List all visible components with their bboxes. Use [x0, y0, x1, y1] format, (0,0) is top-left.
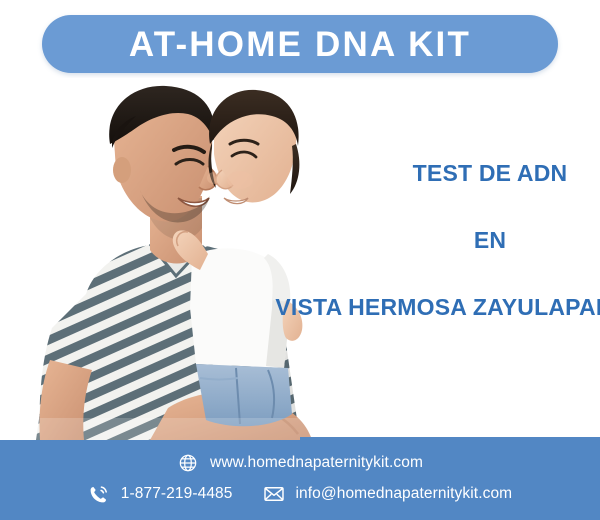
footer-row-contact: 1-877-219-4485 info@homednapaternitykit.…: [0, 483, 600, 505]
headline-line-3-location: VISTA HERMOSA ZAYULAPAN: [263, 294, 600, 321]
footer-email[interactable]: info@homednapaternitykit.com: [263, 483, 513, 505]
flyer-canvas: AT-HOME DNA KIT: [0, 0, 600, 520]
banner-title: AT-HOME DNA KIT: [129, 27, 471, 62]
footer-website[interactable]: www.homednapaternitykit.com: [177, 452, 423, 474]
headline-line-1: TEST DE ADN: [355, 160, 600, 187]
footer-phone[interactable]: 1-877-219-4485: [88, 483, 233, 505]
envelope-icon: [263, 483, 285, 505]
banner-pill: AT-HOME DNA KIT: [42, 15, 558, 73]
website-label: www.homednapaternitykit.com: [210, 454, 423, 472]
headline-block: TEST DE ADN EN VISTA HERMOSA ZAYULAPAN: [245, 160, 600, 321]
headline-line-2: EN: [355, 227, 600, 254]
phone-icon: [88, 483, 110, 505]
globe-icon: [177, 452, 199, 474]
email-label: info@homednapaternitykit.com: [296, 485, 513, 503]
phone-label: 1-877-219-4485: [121, 485, 233, 503]
footer-row-website: www.homednapaternitykit.com: [0, 452, 600, 474]
